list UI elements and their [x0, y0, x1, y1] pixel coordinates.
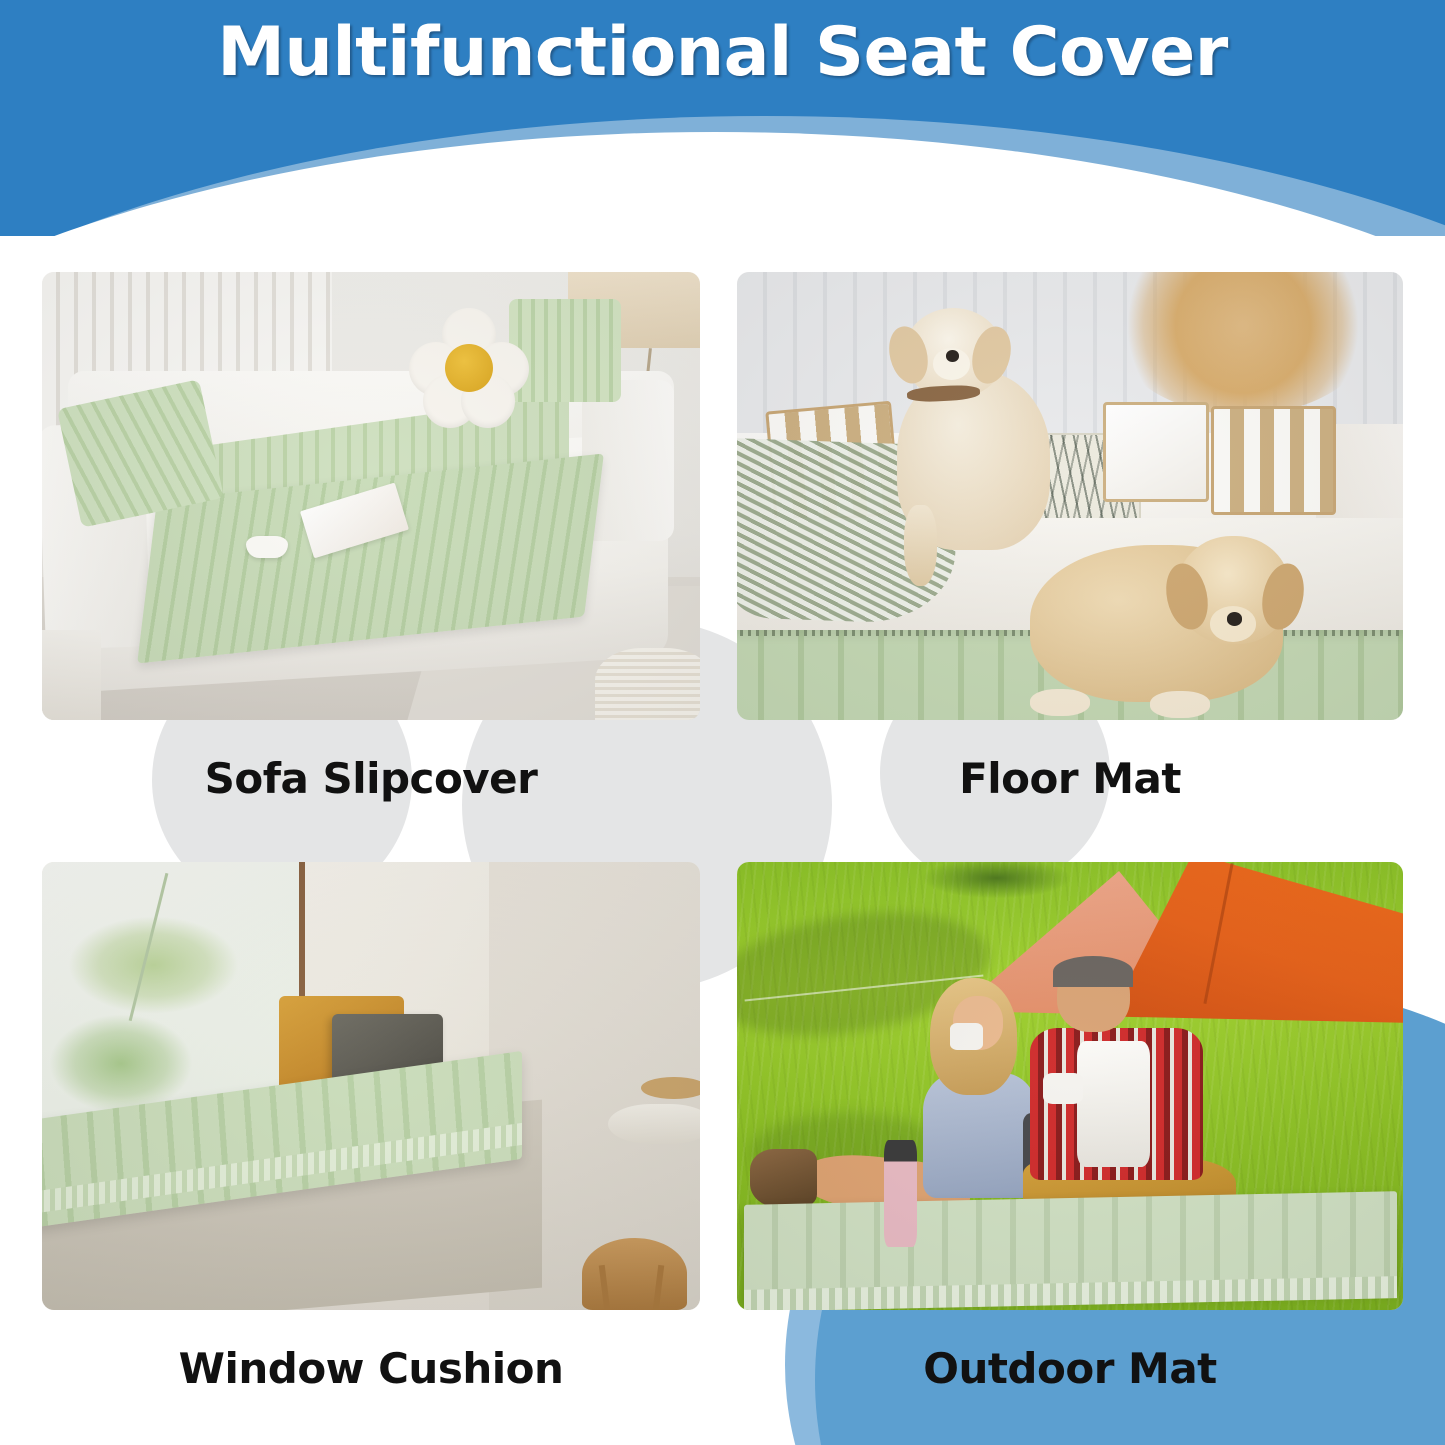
coffee-cup-icon — [950, 1023, 983, 1050]
flower-pillow-icon — [409, 308, 529, 428]
product-card-outdoor-mat[interactable]: Outdoor Mat — [737, 862, 1403, 1393]
striped-pillow-icon — [1211, 406, 1337, 515]
product-label-window-cushion: Window Cushion — [42, 1344, 700, 1393]
infographic-page: Multifunctional Seat Cover — [0, 0, 1445, 1445]
wooden-stool-icon — [582, 1238, 687, 1310]
foliage-icon — [49, 1014, 194, 1113]
white-pillow-icon — [1103, 402, 1209, 502]
product-photo-outdoor-mat — [737, 862, 1403, 1310]
thermos-flask-icon — [884, 1140, 917, 1248]
product-card-window-cushion[interactable]: Window Cushion — [42, 862, 700, 1393]
product-grid: Sofa Slipcover — [0, 0, 1445, 1445]
product-photo-sofa-slipcover — [42, 272, 700, 720]
cup-icon — [246, 536, 288, 558]
product-card-floor-mat[interactable]: Floor Mat — [737, 272, 1403, 803]
basket-icon — [595, 648, 700, 720]
coffee-cup-icon — [1043, 1073, 1083, 1104]
hiking-boot-icon — [750, 1149, 817, 1207]
product-card-sofa-slipcover[interactable]: Sofa Slipcover — [42, 272, 700, 803]
bookshelf-icon — [42, 630, 101, 720]
product-photo-floor-mat — [737, 272, 1403, 720]
product-photo-window-cushion — [42, 862, 700, 1310]
side-table-icon — [608, 1104, 700, 1144]
product-label-floor-mat: Floor Mat — [737, 754, 1403, 803]
product-label-outdoor-mat: Outdoor Mat — [737, 1344, 1403, 1393]
product-label-sofa-slipcover: Sofa Slipcover — [42, 754, 700, 803]
